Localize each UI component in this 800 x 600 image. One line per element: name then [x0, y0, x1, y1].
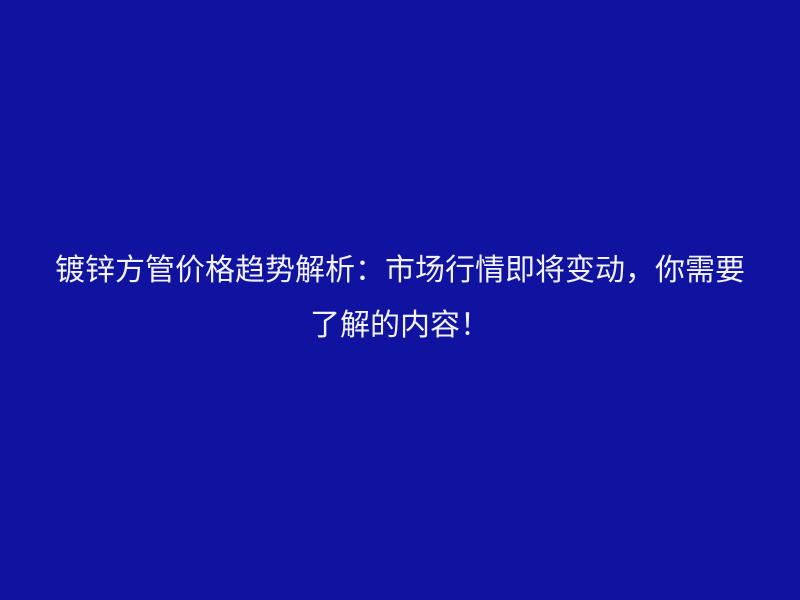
slide-canvas: 镀锌方管价格趋势解析：市场行情即将变动，你需要了解的内容！: [0, 0, 800, 600]
page-title: 镀锌方管价格趋势解析：市场行情即将变动，你需要了解的内容！: [50, 243, 750, 353]
headline-block: 镀锌方管价格趋势解析：市场行情即将变动，你需要了解的内容！: [50, 243, 750, 353]
